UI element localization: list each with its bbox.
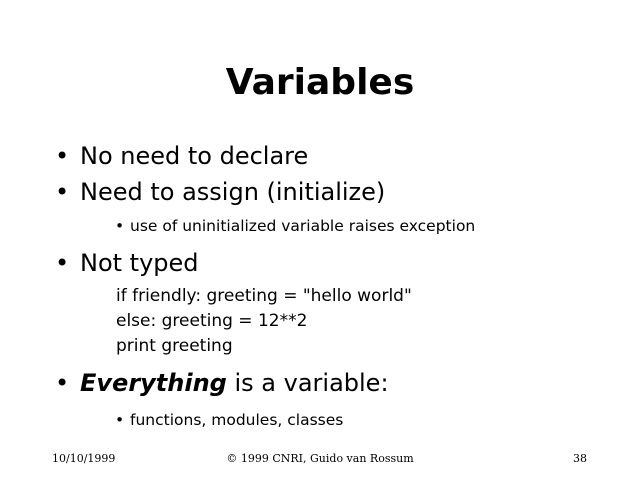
bullet-marker-icon: •: [115, 407, 124, 433]
sub-bullet-item-1-label: use of uninitialized variable raises exc…: [130, 217, 475, 235]
bullet-marker-icon: •: [55, 245, 69, 281]
bullet-item-4-emphasis: Everything: [80, 369, 227, 397]
code-line-2: else: greeting = 12**2: [0, 309, 640, 334]
slide: Variables • No need to declare • Need to…: [0, 0, 640, 480]
sub-bullet-item-2: • functions, modules, classes: [0, 407, 640, 433]
sub-bullet-item-2-label: functions, modules, classes: [130, 411, 343, 429]
bullet-item-1-label: No need to declare: [80, 142, 308, 170]
page-title: Variables: [0, 62, 640, 104]
slide-body: • No need to declare • Need to assign (i…: [0, 138, 640, 433]
bullet-marker-icon: •: [55, 138, 69, 174]
code-line-3: print greeting: [0, 334, 640, 359]
bullet-marker-icon: •: [55, 365, 69, 401]
sub-bullet-item-1: • use of uninitialized variable raises e…: [0, 213, 640, 239]
footer-copyright: © 1999 CNRI, Guido van Rossum: [0, 452, 640, 466]
bullet-item-2: • Need to assign (initialize): [0, 174, 640, 210]
bullet-marker-icon: •: [55, 174, 69, 210]
bullet-marker-icon: •: [115, 213, 124, 239]
bullet-item-3-label: Not typed: [80, 249, 199, 277]
bullet-item-1: • No need to declare: [0, 138, 640, 174]
footer-page-number: 38: [573, 452, 587, 466]
slide-footer: 10/10/1999 © 1999 CNRI, Guido van Rossum…: [0, 452, 640, 468]
code-line-1: if friendly: greeting = "hello world": [0, 284, 640, 309]
bullet-item-2-label: Need to assign (initialize): [80, 178, 385, 206]
bullet-item-3: • Not typed: [0, 245, 640, 281]
bullet-item-4-label: is a variable:: [227, 369, 389, 397]
bullet-item-4: • Everything is a variable:: [0, 365, 640, 401]
